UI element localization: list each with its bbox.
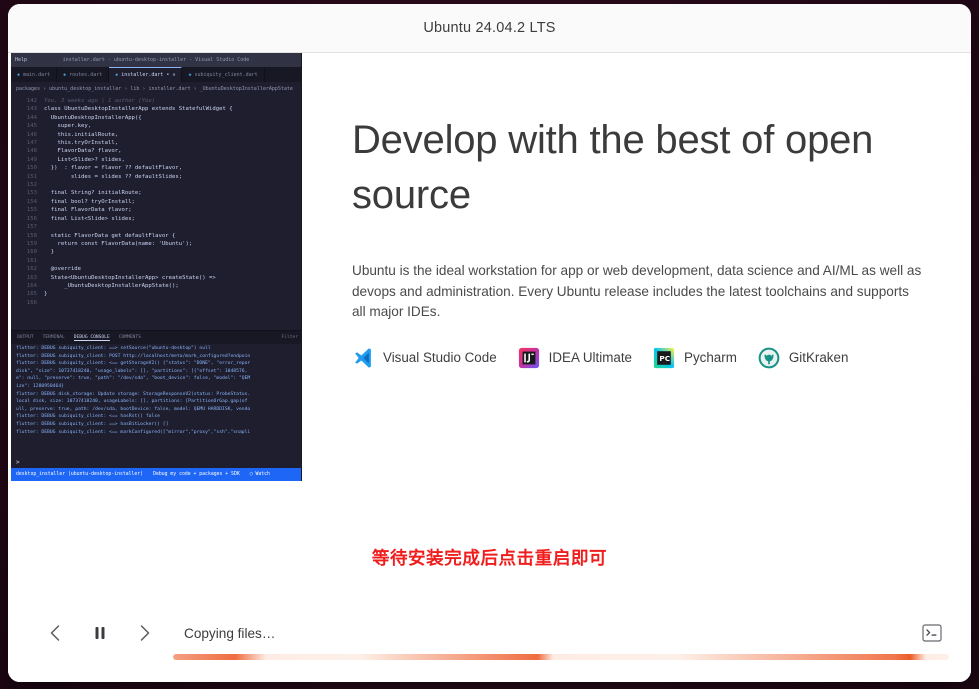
code-line: final List<Slide> slides; — [44, 215, 135, 223]
line-number: 149 — [11, 156, 44, 164]
console-line: flutter: DEBUG subiquity_client: <== mar… — [16, 429, 301, 437]
vscode-icon — [352, 347, 374, 369]
line-number: 161 — [11, 257, 44, 265]
pycharm-icon: PC — [653, 347, 675, 369]
panel-tab-output: OUTPUT — [17, 335, 34, 340]
console-line: e": null, "preserve": true, "path": "/de… — [16, 375, 301, 383]
console-line: ize": 1280950464} — [16, 383, 301, 391]
statusbar-watch: ◯ Watch — [250, 472, 270, 477]
line-number: 162 — [11, 265, 44, 273]
code-line: State<UbuntuDesktopInstallerApp> createS… — [44, 274, 216, 282]
panel-tab-comments: COMMENTS — [119, 335, 141, 340]
code-line: UbuntuDesktopInstallerApp({ — [44, 114, 142, 122]
console-line: local disk, size: 10737418240, usageLabe… — [16, 398, 301, 406]
line-number: 150 — [11, 164, 44, 172]
gitkraken-icon — [758, 347, 780, 369]
code-line: this.initialRoute, — [44, 131, 118, 139]
ide-label: IDEA Ultimate — [549, 350, 632, 365]
console-line: flutter: DEBUG subiquity_client: POST ht… — [16, 353, 301, 361]
ide-label: Pycharm — [684, 350, 737, 365]
window-title: Ubuntu 24.04.2 LTS — [423, 20, 555, 36]
next-slide-button[interactable] — [128, 616, 162, 650]
code-line: } — [44, 248, 54, 256]
line-number: 145 — [11, 122, 44, 130]
installer-window: Ubuntu 24.04.2 LTS Help installer.dart -… — [8, 4, 971, 682]
chevron-right-icon — [138, 624, 152, 642]
intellij-idea-icon — [518, 347, 540, 369]
pause-icon — [93, 625, 107, 641]
vscode-editor: 142You, 3 weeks ago | 1 author (You) 143… — [11, 95, 301, 330]
line-number: 151 — [11, 173, 44, 181]
line-number: 164 — [11, 282, 44, 290]
installation-progress-bar — [173, 654, 949, 660]
code-line: final FlavorData flavor; — [44, 206, 132, 214]
vscode-debug-console: flutter: DEBUG subiquity_client: ==> set… — [11, 344, 301, 457]
ide-gitkraken: GitKraken — [758, 347, 849, 369]
slide-text-block: Develop with the best of open source Ubu… — [352, 113, 932, 369]
panel-tab-debug-console: DEBUG CONSOLE — [74, 335, 110, 341]
line-number: 146 — [11, 131, 44, 139]
ide-visual-studio-code: Visual Studio Code — [352, 347, 497, 369]
console-line: flutter: DEBUG subiquity_client: <== get… — [16, 360, 301, 368]
statusbar-debug-config: Debug my code + packages + SDK — [153, 472, 240, 477]
dart-file-icon: ◈ — [115, 72, 118, 78]
panel-filter-input: Filter — [281, 335, 298, 340]
line-number: 152 — [11, 181, 44, 189]
console-line: flutter: DEBUG subiquity_client: ==> set… — [16, 345, 301, 353]
ide-list: Visual Studio Code — [352, 347, 932, 369]
git-blame: You, 3 weeks ago | 1 author (You) — [44, 97, 155, 105]
code-line: static FlavorData get defaultFlavor { — [44, 232, 175, 240]
ide-label: GitKraken — [789, 350, 849, 365]
line-number: 165 — [11, 290, 44, 298]
code-line: _UbuntuDesktopInstallerAppState(); — [44, 282, 179, 290]
ide-pycharm: PC Pycharm — [653, 347, 737, 369]
console-line: flutter: DEBUG subiquity_client: <== has… — [16, 413, 301, 421]
code-line: class UbuntuDesktopInstallerApp extends … — [44, 105, 233, 113]
slide-body-text: Ubuntu is the ideal workstation for app … — [352, 261, 924, 322]
code-line: List<Slide>? slides, — [44, 156, 125, 164]
ide-label: Visual Studio Code — [383, 350, 497, 365]
code-line: FlavorData? flavor, — [44, 147, 121, 155]
code-line: final String? initialRoute; — [44, 189, 142, 197]
svg-text:PC: PC — [659, 353, 670, 362]
line-number: 155 — [11, 206, 44, 214]
panel-tab-terminal: TERMINAL — [43, 335, 65, 340]
line-number: 154 — [11, 198, 44, 206]
line-number: 148 — [11, 147, 44, 155]
code-line: @override — [44, 265, 81, 273]
restart-notice-text: 等待安装完成后点击重启即可 — [8, 545, 971, 570]
code-line: }) : flavor = flavor ?? defaultFlavor, — [44, 164, 182, 172]
line-number: 159 — [11, 240, 44, 248]
modified-dot-icon: • — [166, 72, 169, 78]
vscode-tab: ◈subiquity_client.dart — [182, 67, 264, 82]
console-line: ull, preserve: true, path: /dev/sda, boo… — [16, 406, 301, 414]
line-number: 163 — [11, 274, 44, 282]
dart-file-icon: ◈ — [17, 72, 20, 78]
line-number: 160 — [11, 248, 44, 256]
close-icon: ✕ — [172, 72, 175, 78]
line-number: 142 — [11, 97, 44, 105]
vscode-tab-active: ◈installer.dart•✕ — [109, 67, 182, 82]
vscode-menubar: Help installer.dart - ubuntu-desktop-ins… — [11, 53, 301, 67]
slide-heading: Develop with the best of open source — [352, 113, 932, 223]
vscode-console-prompt: > — [11, 457, 301, 468]
console-line: flutter: DEBUG disk_storage: Update stor… — [16, 391, 301, 399]
vscode-tabbar: ◈main.dart ◈routes.dart ◈installer.dart•… — [11, 67, 301, 82]
show-terminal-button[interactable] — [915, 616, 949, 650]
line-number: 157 — [11, 223, 44, 231]
code-line: final bool? tryOrInstall; — [44, 198, 135, 206]
code-line: } — [44, 290, 47, 298]
installer-content: Help installer.dart - ubuntu-desktop-ins… — [8, 53, 971, 682]
code-line: slides = slides ?? defaultSlides; — [44, 173, 182, 181]
dart-file-icon: ◈ — [63, 72, 66, 78]
code-line: return const FlavorData(name: 'Ubuntu'); — [44, 240, 192, 248]
line-number: 147 — [11, 139, 44, 147]
statusbar-session: desktop_installer (ubuntu-desktop-instal… — [16, 472, 143, 477]
ide-idea-ultimate: IDEA Ultimate — [518, 347, 632, 369]
vscode-slide-image: Help installer.dart - ubuntu-desktop-ins… — [11, 53, 302, 481]
vscode-tab: ◈routes.dart — [57, 67, 109, 82]
progress-bar-fill — [173, 654, 949, 660]
line-number: 143 — [11, 105, 44, 113]
line-number: 158 — [11, 232, 44, 240]
line-number: 156 — [11, 215, 44, 223]
window-titlebar: Ubuntu 24.04.2 LTS — [8, 4, 971, 53]
line-number: 144 — [11, 114, 44, 122]
code-line: this.tryOrInstall, — [44, 139, 118, 147]
dart-file-icon: ◈ — [188, 72, 191, 78]
line-number: 166 — [11, 299, 44, 307]
pause-slideshow-button[interactable] — [83, 616, 117, 650]
code-line: super.key, — [44, 122, 91, 130]
vscode-tab: ◈main.dart — [11, 67, 57, 82]
vscode-window-title: installer.dart - ubuntu-desktop-installe… — [11, 57, 301, 63]
chevron-left-icon — [48, 624, 62, 642]
console-line: flutter: DEBUG subiquity_client: ==> has… — [16, 421, 301, 429]
line-number: 153 — [11, 189, 44, 197]
installer-bottom-bar: Copying files… — [8, 604, 971, 682]
previous-slide-button[interactable] — [38, 616, 72, 650]
vscode-statusbar: desktop_installer (ubuntu-desktop-instal… — [11, 468, 301, 481]
slideshow-controls: Copying files… — [8, 616, 971, 650]
terminal-icon — [922, 624, 942, 642]
vscode-breadcrumb: packages › ubuntu_desktop_installer › li… — [11, 82, 301, 95]
installer-status-text: Copying files… — [184, 626, 275, 641]
console-line: disk", "size": 10737418240, "usage_label… — [16, 368, 301, 376]
vscode-panel-tabs: OUTPUT TERMINAL DEBUG CONSOLE COMMENTS F… — [11, 330, 301, 344]
